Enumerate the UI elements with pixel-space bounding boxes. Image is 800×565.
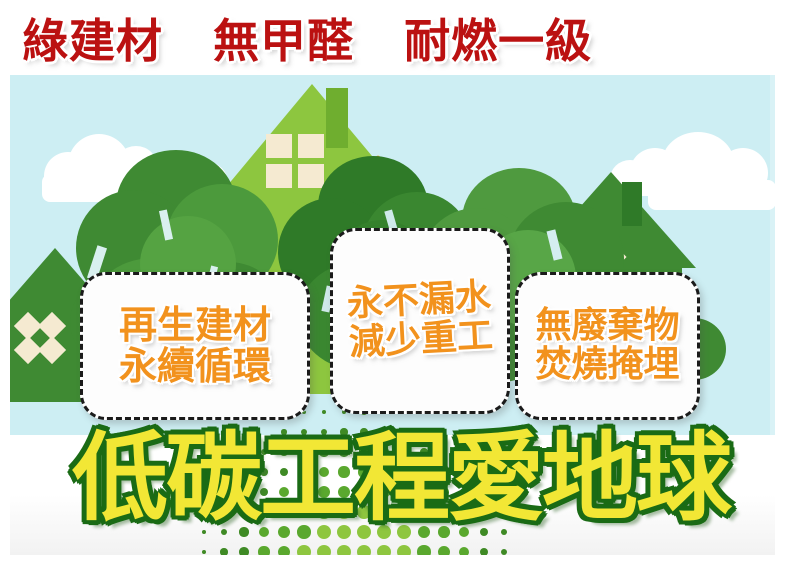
- top-headline-part-2: 無甲醛: [213, 5, 354, 71]
- feature-box-no-waste-line1: 無廢棄物: [535, 307, 679, 346]
- feature-box-no-leak-inner: 永不漏水 減少重工: [346, 278, 494, 363]
- globe-dot: [417, 545, 430, 555]
- feature-box-recycled-material-line1: 再生建材: [119, 305, 271, 346]
- bottom-headline-text: 低碳工程愛地球: [36, 430, 766, 526]
- feature-box-recycled-material[interactable]: 再生建材 永續循環: [80, 272, 310, 420]
- globe-dot: [220, 548, 227, 555]
- feature-box-no-leak[interactable]: 永不漏水 減少重工: [330, 228, 510, 414]
- top-headline-banner: 綠建材 無甲醛 耐燃一級: [0, 0, 800, 75]
- feature-box-recycled-material-line2: 永續循環: [119, 346, 271, 387]
- feature-box-no-leak-line2: 減少重工: [348, 317, 494, 363]
- globe-dot: [438, 546, 450, 555]
- globe-dot: [258, 546, 269, 555]
- globe-dot: [278, 546, 291, 555]
- top-headline-part-1: 綠建材: [22, 5, 163, 71]
- globe-dot: [501, 549, 507, 555]
- globe-dot: [377, 545, 392, 555]
- globe-dot: [397, 545, 411, 555]
- feature-box-no-waste[interactable]: 無廢棄物 焚燒掩埋: [515, 272, 700, 420]
- globe-dot: [322, 410, 327, 415]
- top-headline-part-3: 耐燃一級: [404, 5, 592, 71]
- globe-dot: [297, 545, 311, 555]
- globe-dot: [317, 545, 331, 555]
- globe-dot: [480, 548, 488, 555]
- globe-dot: [337, 545, 352, 555]
- feature-box-no-waste-line2: 焚燒掩埋: [535, 346, 679, 385]
- top-headline-text: 綠建材 無甲醛 耐燃一級: [22, 5, 592, 71]
- globe-dot: [459, 547, 469, 555]
- globe-dot: [239, 547, 248, 555]
- globe-dot: [357, 545, 372, 555]
- globe-dot: [202, 550, 207, 555]
- poster-canvas: 綠建材 無甲醛 耐燃一級 再生建材 永續循環 永不漏水 減少重工 無廢棄物 焚燒…: [0, 0, 800, 565]
